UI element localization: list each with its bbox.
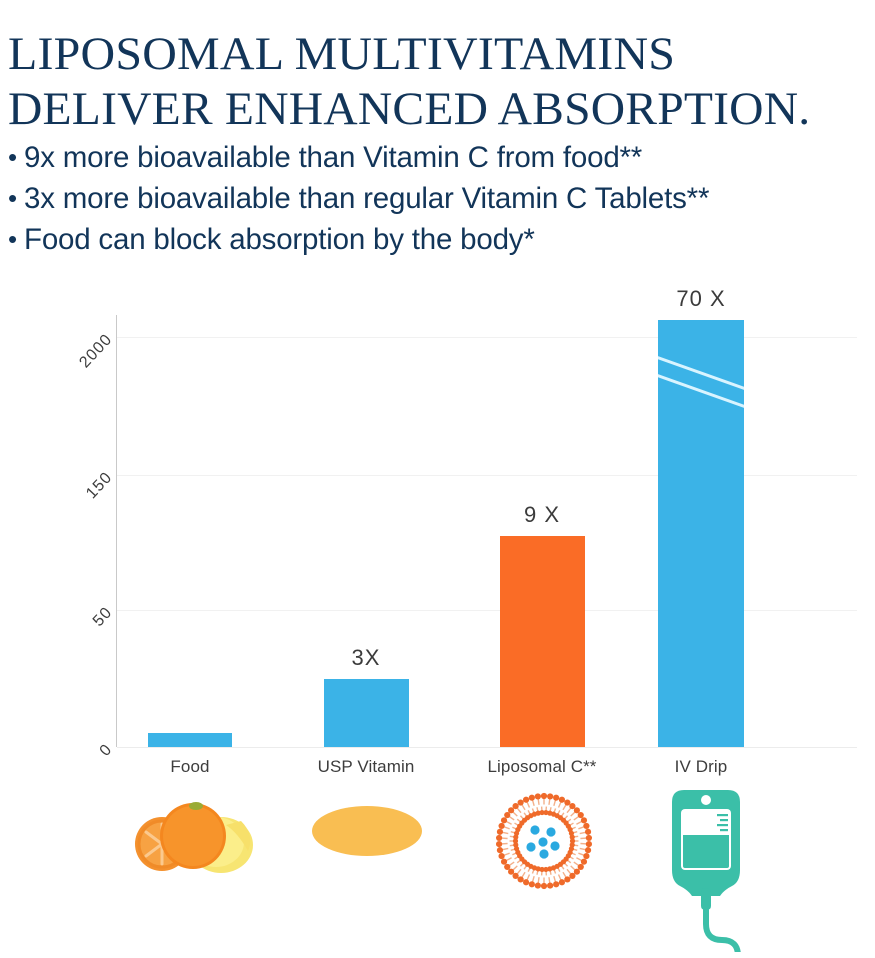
icon-cell-usp-vitamin — [311, 804, 423, 863]
gridline-50 — [117, 610, 857, 611]
gridline-2000 — [117, 337, 857, 338]
page-title-line-2: DELIVER ENHANCED ABSORPTION. — [8, 82, 875, 137]
bioavailability-bar-chart: 2000 150 50 0 3X 9 X 70 X Food USP Vitam… — [0, 280, 875, 800]
page-title-line-1: LIPOSOMAL MULTIVITAMINS — [8, 27, 875, 82]
x-axis-baseline — [117, 747, 857, 748]
y-tick-label-2000: 2000 — [62, 331, 116, 387]
gridline-150 — [117, 475, 857, 476]
bullet-dot-icon: • — [8, 137, 24, 178]
list-item: • 9x more bioavailable than Vitamin C fr… — [8, 137, 875, 178]
value-label-usp-vitamin: 3X — [296, 645, 436, 671]
list-item: • 3x more bioavailable than regular Vita… — [8, 178, 875, 219]
value-label-liposomal-c: 9 X — [472, 502, 612, 528]
y-tick-label-150: 150 — [66, 469, 117, 522]
y-tick-label-50: 50 — [68, 604, 117, 654]
value-label-iv-drip: 70 X — [631, 286, 771, 312]
list-item-label: Food can block absorption by the body* — [24, 219, 535, 260]
y-axis-line — [116, 315, 117, 747]
bar-usp-vitamin[interactable] — [324, 679, 409, 747]
bar-liposomal-c[interactable] — [500, 536, 585, 747]
list-item-label: 9x more bioavailable than Vitamin C from… — [24, 137, 642, 178]
amber-oval-tablet-icon — [311, 804, 423, 858]
bullet-dot-icon: • — [8, 219, 24, 260]
oranges-and-lemon-icon — [128, 792, 258, 878]
icon-cell-liposomal-c — [489, 790, 599, 895]
iv-drip-bag-icon — [660, 784, 775, 952]
x-label-usp-vitamin: USP Vitamin — [296, 757, 436, 777]
list-item-label: 3x more bioavailable than regular Vitami… — [24, 178, 709, 219]
page-title: LIPOSOMAL MULTIVITAMINS DELIVER ENHANCED… — [8, 27, 875, 137]
bar-iv-drip[interactable] — [658, 320, 744, 747]
x-label-food: Food — [120, 757, 260, 777]
liposome-payload — [526, 825, 559, 858]
x-label-iv-drip: IV Drip — [631, 757, 771, 777]
icon-cell-food — [128, 792, 258, 883]
bullet-dot-icon: • — [8, 178, 24, 219]
bar-food[interactable] — [148, 733, 232, 747]
category-icons-row — [0, 782, 875, 958]
axis-break-icon — [658, 320, 744, 747]
list-item: • Food can block absorption by the body* — [8, 219, 875, 260]
icon-cell-iv-drip — [660, 784, 775, 957]
liposome-icon — [489, 790, 599, 890]
x-label-liposomal-c: Liposomal C** — [472, 757, 612, 777]
y-tick-label-0: 0 — [72, 741, 117, 787]
infographic-page: LIPOSOMAL MULTIVITAMINS DELIVER ENHANCED… — [0, 0, 875, 958]
benefits-list: • 9x more bioavailable than Vitamin C fr… — [8, 137, 875, 260]
